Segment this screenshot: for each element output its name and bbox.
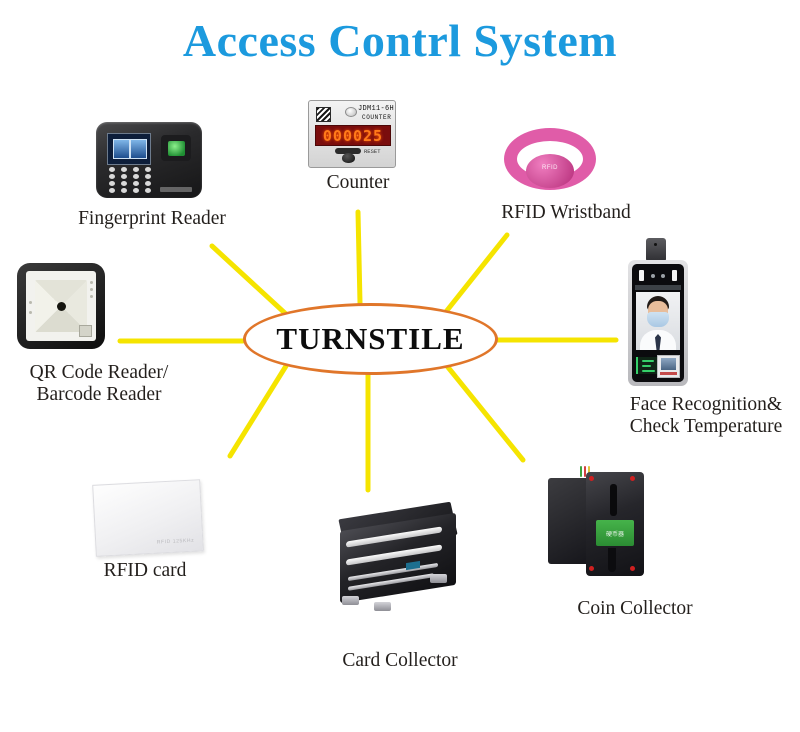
status-led — [29, 311, 32, 314]
coin-acceptor-label-text: 硬币器 — [606, 529, 624, 538]
mounting-foot — [430, 574, 447, 583]
keypad-key — [109, 181, 115, 186]
keypad-key — [145, 188, 151, 193]
face-recognition-device — [624, 238, 692, 388]
fill-light — [672, 270, 677, 281]
counter-model-label: JDM11-6H — [358, 105, 394, 113]
fingerprint-sensor-surface — [168, 141, 185, 156]
caption-coin-collector: Coin Collector — [540, 598, 730, 620]
status-led — [90, 295, 93, 298]
fill-light — [639, 270, 644, 281]
ray-to-counter — [358, 212, 360, 303]
fingerprint-reader-screen — [107, 133, 151, 165]
scanner-brand-badge — [79, 325, 92, 337]
fingerprint-sensor — [161, 135, 191, 161]
subject-face-mask — [647, 312, 669, 327]
terminal-bezel — [628, 260, 688, 386]
status-led — [90, 288, 93, 291]
keypad-key — [133, 167, 139, 172]
status-led — [90, 281, 93, 284]
brand-plate — [160, 187, 192, 192]
turnstile-hub-label: TURNSTILE — [246, 306, 495, 372]
keypad-key — [133, 188, 139, 193]
ray-to-rfid-card — [230, 366, 286, 456]
card-collector-device — [330, 504, 470, 616]
mounting-foot — [374, 602, 391, 611]
caption-qr-barcode-reader: QR Code Reader/ Barcode Reader — [4, 362, 194, 406]
turnstile-hub: TURNSTILE — [243, 303, 498, 375]
live-camera-preview — [636, 292, 680, 350]
identity-card-thumbnail — [657, 355, 680, 378]
ray-to-coin-collector — [447, 366, 523, 460]
keypad-key — [121, 174, 127, 179]
counter-brand-logo-icon — [316, 107, 331, 122]
keypad-key — [121, 167, 127, 172]
fingerprint-reader-device — [96, 122, 202, 198]
identity-name-bar — [660, 372, 677, 375]
status-led — [29, 301, 32, 304]
coin-acceptor-front-plate: 硬币器 — [586, 472, 644, 576]
keypad-key — [109, 174, 115, 179]
caption-rfid-card: RFID card — [60, 560, 230, 582]
sensor-lens-icon — [654, 243, 657, 246]
mounting-screw — [589, 476, 594, 481]
counter-display: 000025 — [315, 125, 391, 146]
coin-return-track — [608, 548, 616, 572]
keypad-key — [145, 167, 151, 172]
keypad-key — [109, 188, 115, 193]
screen-tile — [130, 139, 147, 159]
counter-reset-button[interactable] — [342, 153, 355, 163]
keypad-key — [121, 188, 127, 193]
scanner-lens-icon — [57, 302, 66, 311]
ir-sensor-icon — [661, 274, 665, 278]
caption-card-collector: Card Collector — [300, 650, 500, 672]
caption-fingerprint-reader: Fingerprint Reader — [62, 208, 242, 230]
led-fill-light-row — [632, 269, 684, 282]
screen-info-overlay — [636, 355, 680, 377]
keypad-key — [109, 167, 115, 172]
rfid-wristband-device: RFID — [504, 128, 596, 194]
caption-face-recognition: Face Recognition& Check Temperature — [612, 394, 800, 438]
readout-line — [642, 370, 655, 372]
scanner-front-panel — [26, 271, 96, 341]
coin-collector-device: 硬币器 — [548, 466, 652, 582]
keypad-key — [133, 174, 139, 179]
keypad-key — [121, 181, 127, 186]
ray-to-fingerprint-reader — [212, 246, 287, 315]
wristband-head-text: RFID — [526, 165, 574, 171]
counter-reset-label: RESET — [364, 148, 381, 155]
readout-line — [642, 360, 654, 362]
keypad-key — [145, 181, 151, 186]
identity-photo — [661, 358, 676, 370]
coin-insert-slot — [610, 484, 617, 516]
terminal-screen — [632, 264, 684, 382]
caption-counter: Counter — [300, 172, 416, 194]
mounting-screw — [589, 566, 594, 571]
qr-barcode-reader-device — [17, 263, 105, 349]
camera-lens-icon — [651, 274, 655, 278]
caption-rfid-wristband: RFID Wristband — [486, 202, 646, 224]
wire-harness — [580, 466, 582, 477]
counter-device: JDM11-6H COUNTER 000025 RESET — [308, 100, 396, 168]
rfid-card-print-text: RFID 125KHz — [157, 538, 195, 546]
keypad-key — [145, 174, 151, 179]
mounting-screw — [630, 476, 635, 481]
counter-display-value: 000025 — [323, 127, 383, 145]
temperature-readout-panel — [636, 357, 658, 374]
screen-status-strip — [635, 285, 681, 290]
diagram-canvas: Access Contrl System TURNSTILE — [0, 0, 800, 732]
wristband-rfid-head: RFID — [526, 154, 574, 188]
counter-type-label: COUNTER — [362, 114, 391, 121]
screen-tile — [113, 139, 130, 159]
mounting-screw — [630, 566, 635, 571]
keypad-key — [133, 181, 139, 186]
temperature-sensor-module — [646, 238, 666, 262]
counter-indicator-lamp — [345, 107, 357, 117]
readout-line — [642, 365, 651, 367]
fingerprint-reader-keypad — [106, 167, 154, 193]
coin-acceptor-label: 硬币器 — [596, 520, 634, 546]
mounting-foot — [342, 596, 359, 605]
rfid-card-device: RFID 125KHz — [92, 479, 204, 557]
